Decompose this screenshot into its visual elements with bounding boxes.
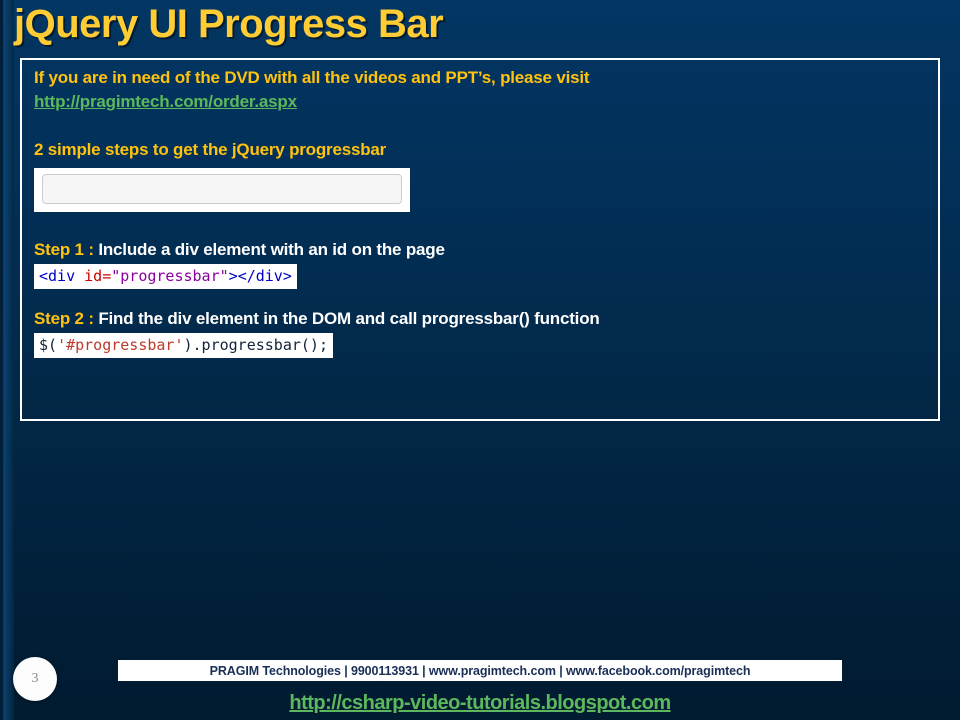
progressbar-widget-container: [34, 168, 410, 212]
spacer: [34, 212, 928, 240]
step-2-label: Step 2 :: [34, 309, 94, 328]
step-1-code-block: <div id="progressbar"></div>: [34, 264, 297, 289]
step-1-line: Step 1 : Include a div element with an i…: [34, 240, 928, 260]
code-token-attr: id=: [75, 267, 111, 285]
presentation-slide: jQuery UI Progress Bar If you are in nee…: [0, 0, 960, 720]
code-token-close-tag: </div>: [238, 267, 292, 285]
footer-info-text: PRAGIM Technologies | 9900113931 | www.p…: [210, 664, 751, 678]
steps-heading: 2 simple steps to get the jQuery progres…: [34, 140, 928, 160]
footer-info-bar: PRAGIM Technologies | 9900113931 | www.p…: [118, 660, 842, 681]
step-1-label: Step 1 :: [34, 240, 94, 259]
step-2-text: Find the div element in the DOM and call…: [98, 309, 599, 328]
code-token-string: "progressbar": [111, 267, 228, 285]
code-token-close-bracket: >: [229, 267, 238, 285]
blog-link[interactable]: http://csharp-video-tutorials.blogspot.c…: [0, 692, 960, 715]
code-token-suffix: ).progressbar();: [184, 336, 329, 354]
order-page-link[interactable]: http://pragimtech.com/order.aspx: [34, 92, 297, 112]
step-2-line: Step 2 : Find the div element in the DOM…: [34, 309, 928, 329]
left-edge-bar: [0, 0, 3, 720]
step-1-text: Include a div element with an id on the …: [98, 240, 444, 259]
content-box: If you are in need of the DVD with all t…: [20, 58, 940, 421]
content-inner: If you are in need of the DVD with all t…: [34, 68, 928, 358]
code-token-prefix: $(: [39, 336, 57, 354]
empty-progressbar[interactable]: [42, 174, 402, 204]
spacer: [34, 160, 928, 168]
step-2-code-block: $('#progressbar').progressbar();: [34, 333, 333, 358]
slide-title: jQuery UI Progress Bar: [14, 2, 443, 47]
intro-text: If you are in need of the DVD with all t…: [34, 68, 928, 88]
code-token-open-tag: <div: [39, 267, 75, 285]
spacer: [34, 289, 928, 309]
spacer: [34, 112, 928, 140]
code-token-selector-string: '#progressbar': [57, 336, 183, 354]
